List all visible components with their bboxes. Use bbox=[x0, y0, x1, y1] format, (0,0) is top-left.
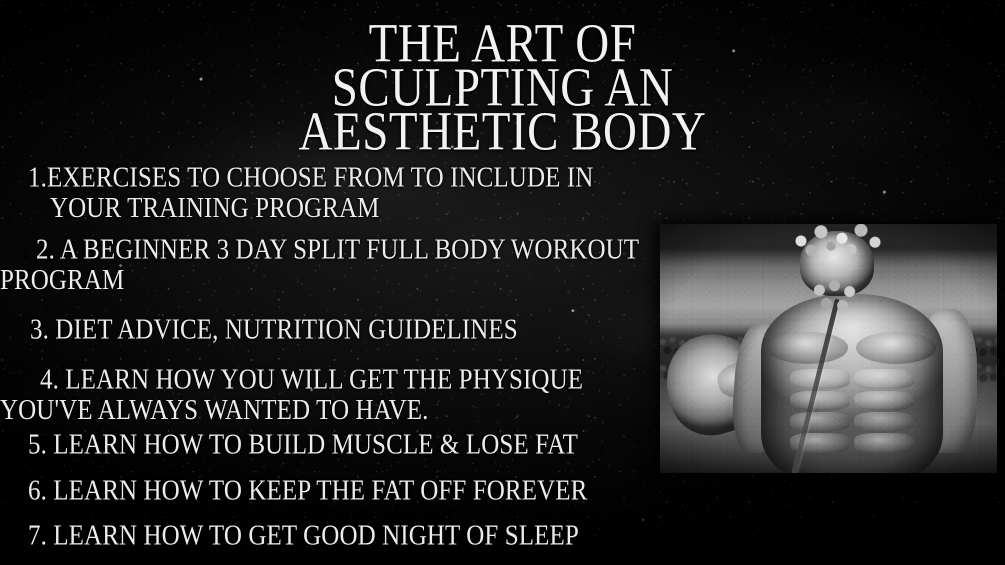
list-item-1-line-1: 1.EXERCISES TO CHOOSE FROM TO INCLUDE IN bbox=[28, 163, 593, 193]
list-item-4-line-2: YOU'VE ALWAYS WANTED TO HAVE. bbox=[0, 395, 583, 425]
list-item-6-line-1: 6. LEARN HOW TO KEEP THE FAT OFF FOREVER bbox=[28, 476, 587, 506]
title-line-3: AESTHETIC BODY bbox=[0, 106, 1005, 158]
hercules-statue-photo bbox=[660, 224, 997, 473]
list-item-5: 5. LEARN HOW TO BUILD MUSCLE & LOSE FAT bbox=[28, 430, 578, 460]
list-item-2-line-2: PROGRAM bbox=[0, 265, 639, 295]
slide-title: THE ART OF SCULPTING AN AESTHETIC BODY bbox=[0, 18, 1005, 150]
list-item-1: 1.EXERCISES TO CHOOSE FROM TO INCLUDE IN… bbox=[28, 163, 593, 223]
list-item-5-line-1: 5. LEARN HOW TO BUILD MUSCLE & LOSE FAT bbox=[28, 430, 578, 460]
list-item-7-line-1: 7. LEARN HOW TO GET GOOD NIGHT OF SLEEP bbox=[28, 521, 579, 551]
list-item-4-line-1: 4. LEARN HOW YOU WILL GET THE PHYSIQUE bbox=[40, 365, 583, 395]
photo-edge-vignette bbox=[660, 224, 997, 473]
list-item-1-line-2: YOUR TRAINING PROGRAM bbox=[28, 193, 593, 223]
list-item-2-line-1: 2. A BEGINNER 3 DAY SPLIT FULL BODY WORK… bbox=[36, 235, 639, 265]
list-item-3: 3. DIET ADVICE, NUTRITION GUIDELINES bbox=[30, 315, 518, 345]
list-item-2: 2. A BEGINNER 3 DAY SPLIT FULL BODY WORK… bbox=[36, 235, 639, 295]
list-item-7: 7. LEARN HOW TO GET GOOD NIGHT OF SLEEP bbox=[28, 521, 579, 551]
presentation-slide: THE ART OF SCULPTING AN AESTHETIC BODY 1… bbox=[0, 0, 1005, 565]
statue-illustration bbox=[660, 224, 997, 473]
list-item-3-line-1: 3. DIET ADVICE, NUTRITION GUIDELINES bbox=[30, 315, 518, 345]
list-item-4: 4. LEARN HOW YOU WILL GET THE PHYSIQUE Y… bbox=[40, 365, 583, 425]
list-item-6: 6. LEARN HOW TO KEEP THE FAT OFF FOREVER bbox=[28, 476, 587, 506]
